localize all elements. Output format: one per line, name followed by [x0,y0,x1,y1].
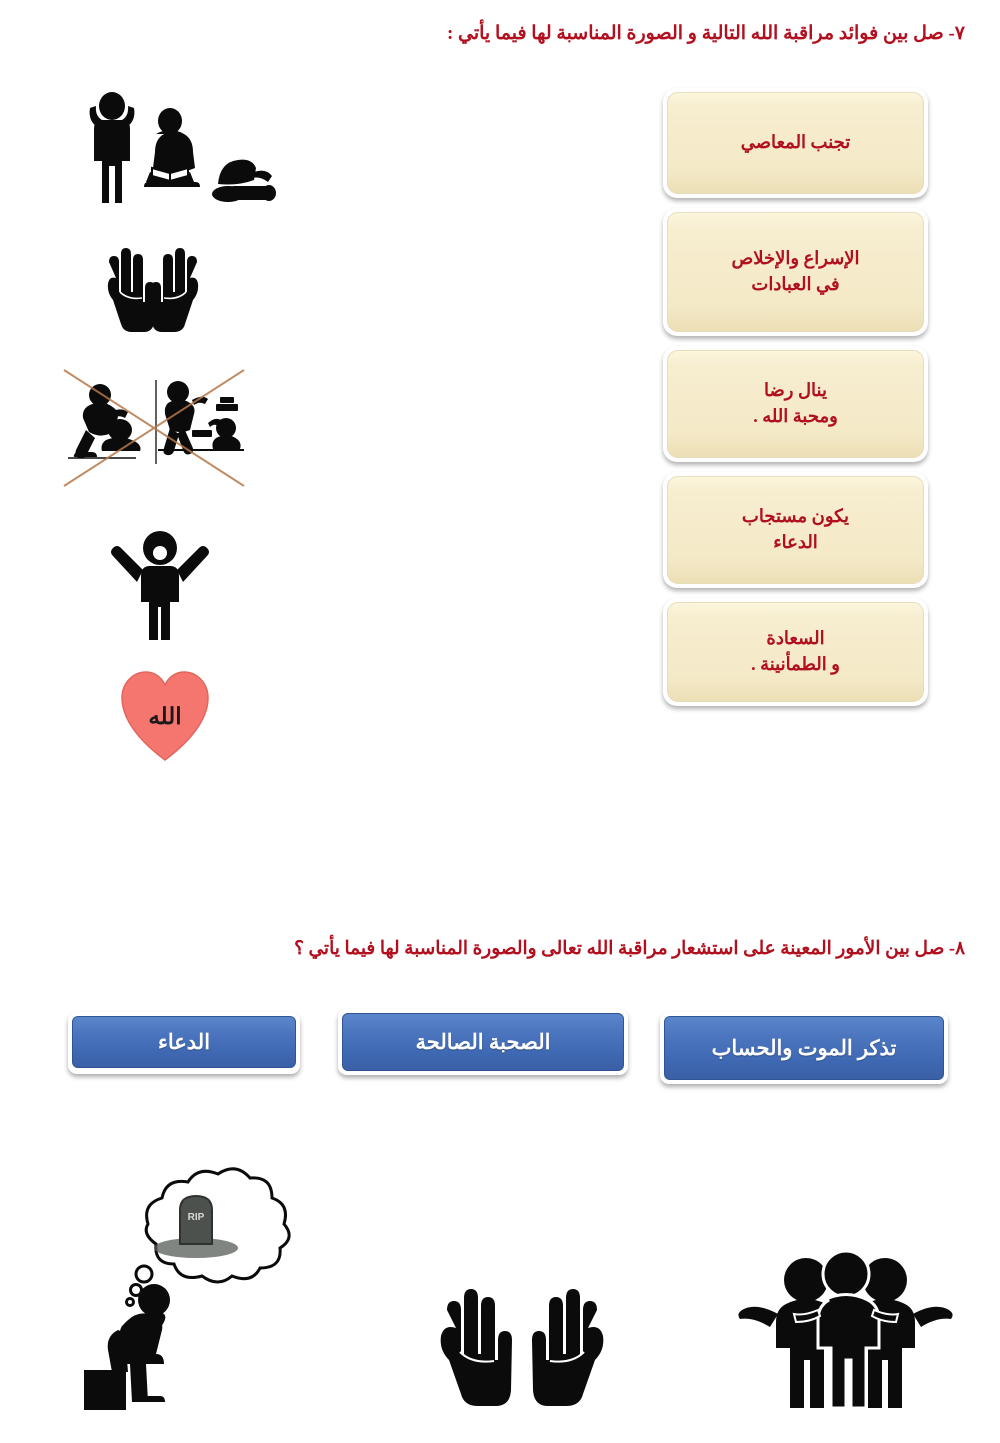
option-line-2: ومحبة الله . [753,406,838,426]
option-button-dua[interactable]: الدعاء [68,1012,300,1074]
heart-allah-icon: الله [118,662,212,766]
option-line-1: ينال رضا [764,380,827,400]
option-line-2: في العبادات [751,274,839,294]
thinking-about-death-icon: RIP [72,1148,302,1410]
option-button-dua-inner: الدعاء [72,1016,296,1068]
option-box-allah-love[interactable]: ينال رضا ومحبة الله . [663,346,928,462]
option-button-good-company-inner: الصحبة الصالحة [342,1013,624,1071]
option-line-1: الإسراع والإخلاص [731,248,859,268]
option-line-1: السعادة [766,628,824,648]
option-box-allah-love-label: ينال رضا ومحبة الله . [753,378,838,429]
option-box-avoid-sins-label: تجنب المعاصي [741,130,851,156]
option-box-sincerity[interactable]: الإسراع والإخلاص في العبادات [663,208,928,336]
option-box-answered-dua-label: يكون مستجاب الدعاء [742,504,849,555]
option-box-answered-dua[interactable]: يكون مستجاب الدعاء [663,472,928,588]
three-friends-icon [738,1248,953,1410]
question-7-heading: ٧- صل بين فوائد مراقبة الله التالية و ال… [447,22,965,45]
option-button-good-company[interactable]: الصحبة الصالحة [338,1009,628,1075]
option-button-remember-death[interactable]: تذكر الموت والحساب [660,1012,948,1084]
heart-allah-text: الله [148,704,181,729]
happy-person-icon [110,522,210,640]
option-box-avoid-sins-inner: تجنب المعاصي [667,92,924,194]
option-line-1: يكون مستجاب [742,506,849,526]
option-button-dua-label: الدعاء [158,1030,210,1055]
praying-people-icon [78,86,278,206]
option-box-sincerity-inner: الإسراع والإخلاص في العبادات [667,212,924,332]
bad-behaviour-crossed-icon [58,368,248,488]
option-box-happiness-inner: السعادة و الطمأنينة . [667,602,924,702]
seat-block [84,1370,126,1410]
option-line-2: و الطمأنينة . [751,654,840,674]
option-button-good-company-label: الصحبة الصالحة [416,1030,551,1055]
exercise-8-options-row: الدعاء الصحبة الصالحة تذكر الموت والحساب [0,1006,1000,1084]
question-8-heading: ٨- صل بين الأمور المعينة على استشعار مرا… [294,938,965,960]
option-box-avoid-sins[interactable]: تجنب المعاصي [663,88,928,198]
option-button-remember-death-label: تذكر الموت والحساب [712,1036,897,1061]
option-box-sincerity-label: الإسراع والإخلاص في العبادات [731,246,859,297]
worksheet-page: ٧- صل بين فوائد مراقبة الله التالية و ال… [0,0,1000,1443]
gravestone-label: RIP [188,1212,205,1223]
praying-hands-icon [432,1272,612,1412]
exercise-7-options-column: تجنب المعاصي الإسراع والإخلاص في العبادا… [663,88,928,706]
option-box-happiness-label: السعادة و الطمأنينة . [751,626,840,677]
raised-hands-icon [98,238,208,333]
option-box-allah-love-inner: ينال رضا ومحبة الله . [667,350,924,458]
option-box-answered-dua-inner: يكون مستجاب الدعاء [667,476,924,584]
option-line-2: الدعاء [773,532,818,552]
option-box-happiness[interactable]: السعادة و الطمأنينة . [663,598,928,706]
option-button-remember-death-inner: تذكر الموت والحساب [664,1016,944,1080]
